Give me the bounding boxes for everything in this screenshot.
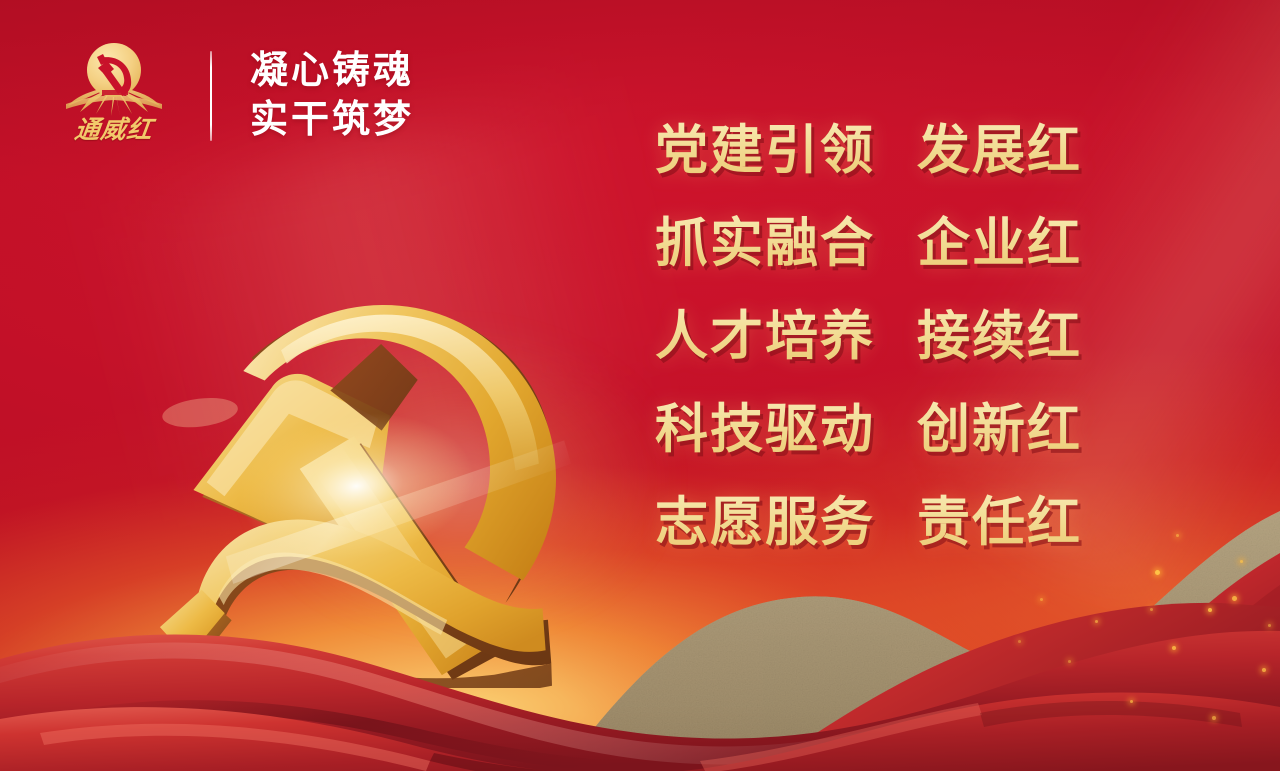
slogan-row-3-left: 人才培养 (655, 294, 875, 370)
party-emblem-hammer-sickle-icon (62, 40, 166, 120)
slogan-row-5-right: 责任红 (917, 480, 1082, 556)
poster-canvas: 通威红 凝心铸魂 实干筑梦 党建引领 发展红 抓实融合 企业红 人才培养 接续红… (0, 0, 1280, 771)
slogan-row-5: 志愿服务 责任红 (655, 480, 1082, 573)
slogan-row-2-right: 企业红 (917, 201, 1082, 277)
brand-header: 通威红 凝心铸魂 实干筑梦 (62, 40, 414, 152)
slogan-row-1: 党建引领 发展红 (655, 108, 1082, 201)
header-divider (210, 51, 212, 141)
red-silk-ribbons (0, 461, 1280, 771)
slogan-row-1-left: 党建引领 (655, 108, 875, 184)
brand-slogan-line-1: 凝心铸魂 (250, 47, 414, 96)
slogan-row-3-right: 接续红 (917, 294, 1082, 370)
slogan-row-3: 人才培养 接续红 (655, 294, 1082, 387)
slogan-row-2: 抓实融合 企业红 (655, 201, 1082, 294)
logo-wordmark: 通威红 (60, 110, 168, 146)
slogan-row-1-right: 发展红 (917, 108, 1082, 184)
slogan-row-5-left: 志愿服务 (655, 480, 875, 556)
slogan-row-4: 科技驱动 创新红 (655, 387, 1082, 480)
brand-slogan-line-2: 实干筑梦 (250, 96, 414, 145)
slogan-row-2-left: 抓实融合 (655, 201, 875, 277)
logo-mark[interactable]: 通威红 (62, 40, 166, 152)
slogan-row-4-left: 科技驱动 (655, 387, 875, 463)
main-slogan-list: 党建引领 发展红 抓实融合 企业红 人才培养 接续红 科技驱动 创新红 志愿服务… (655, 108, 1082, 573)
slogan-row-4-right: 创新红 (917, 387, 1082, 463)
brand-slogan: 凝心铸魂 实干筑梦 (250, 47, 414, 144)
